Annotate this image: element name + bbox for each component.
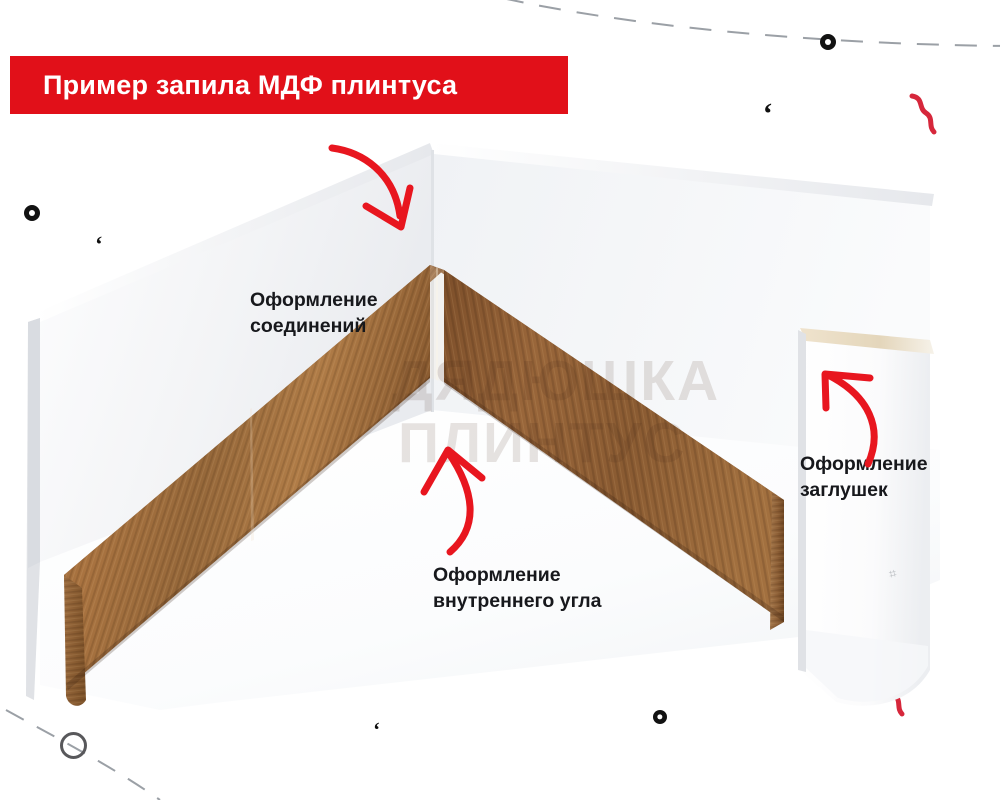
page-title: Пример запила МДФ плинтуса	[10, 70, 457, 101]
dashed-curve-top-icon	[500, 0, 1000, 74]
callout-label-inner-corner: Оформление внутреннего угла	[433, 563, 601, 614]
curved-arrow-up-left-icon	[792, 352, 902, 470]
callout-label-joints: Оформление соединений	[250, 288, 378, 339]
curved-arrow-down-right-icon	[322, 128, 437, 236]
poster-canvas: , , ,	[0, 0, 1000, 800]
curved-arrow-up-icon	[402, 430, 517, 558]
ring-dot-top-right-icon	[820, 34, 836, 50]
title-banner: Пример запила МДФ плинтуса	[10, 56, 568, 114]
ring-outline-bottom-left-icon	[60, 732, 87, 759]
